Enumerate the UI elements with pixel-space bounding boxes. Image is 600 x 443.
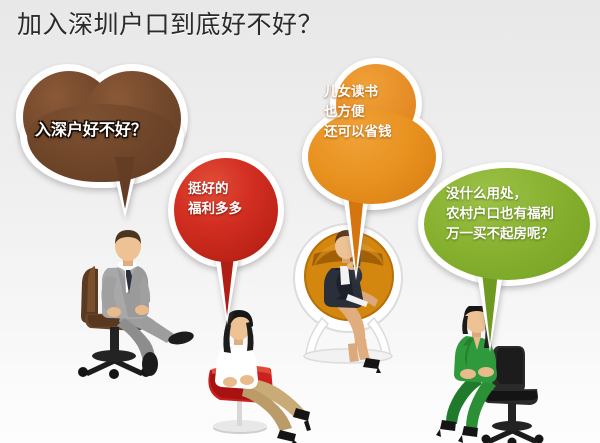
bubble-text-brown: 入深户好不好？ — [35, 118, 175, 142]
bubble-text-green: 没什么用处， 农村户口也有福利 万一买不起房呢？ — [446, 185, 596, 245]
bubble-line: 也方便 — [324, 103, 436, 123]
bubble-line: 福利多多 — [188, 200, 288, 220]
bubble-line: 入深户好不好？ — [35, 118, 175, 142]
bubble-text-red: 挺好的 福利多多 — [188, 180, 288, 220]
bubble-tail — [115, 157, 135, 209]
bubble-line: 儿女读书 — [324, 83, 436, 103]
bubble-line: 没什么用处， — [446, 185, 596, 205]
poster-canvas: 加入深圳户口到底好不好？ 入深户好不好？ 挺好的 福利多多 儿女读书 — [0, 0, 600, 443]
figure-businessman — [62, 222, 202, 382]
bubble-line: 万一买不起房呢？ — [446, 225, 596, 245]
bubble-line: 农村户口也有福利 — [446, 205, 596, 225]
bubble-line: 还可以省钱 — [324, 123, 436, 143]
page-title: 加入深圳户口到底好不好？ — [17, 9, 323, 41]
speech-bubble-brown[interactable]: 入深户好不好？ — [14, 58, 192, 218]
bubble-line: 挺好的 — [188, 180, 288, 200]
bubble-text-orange: 儿女读书 也方便 还可以省钱 — [324, 83, 436, 143]
